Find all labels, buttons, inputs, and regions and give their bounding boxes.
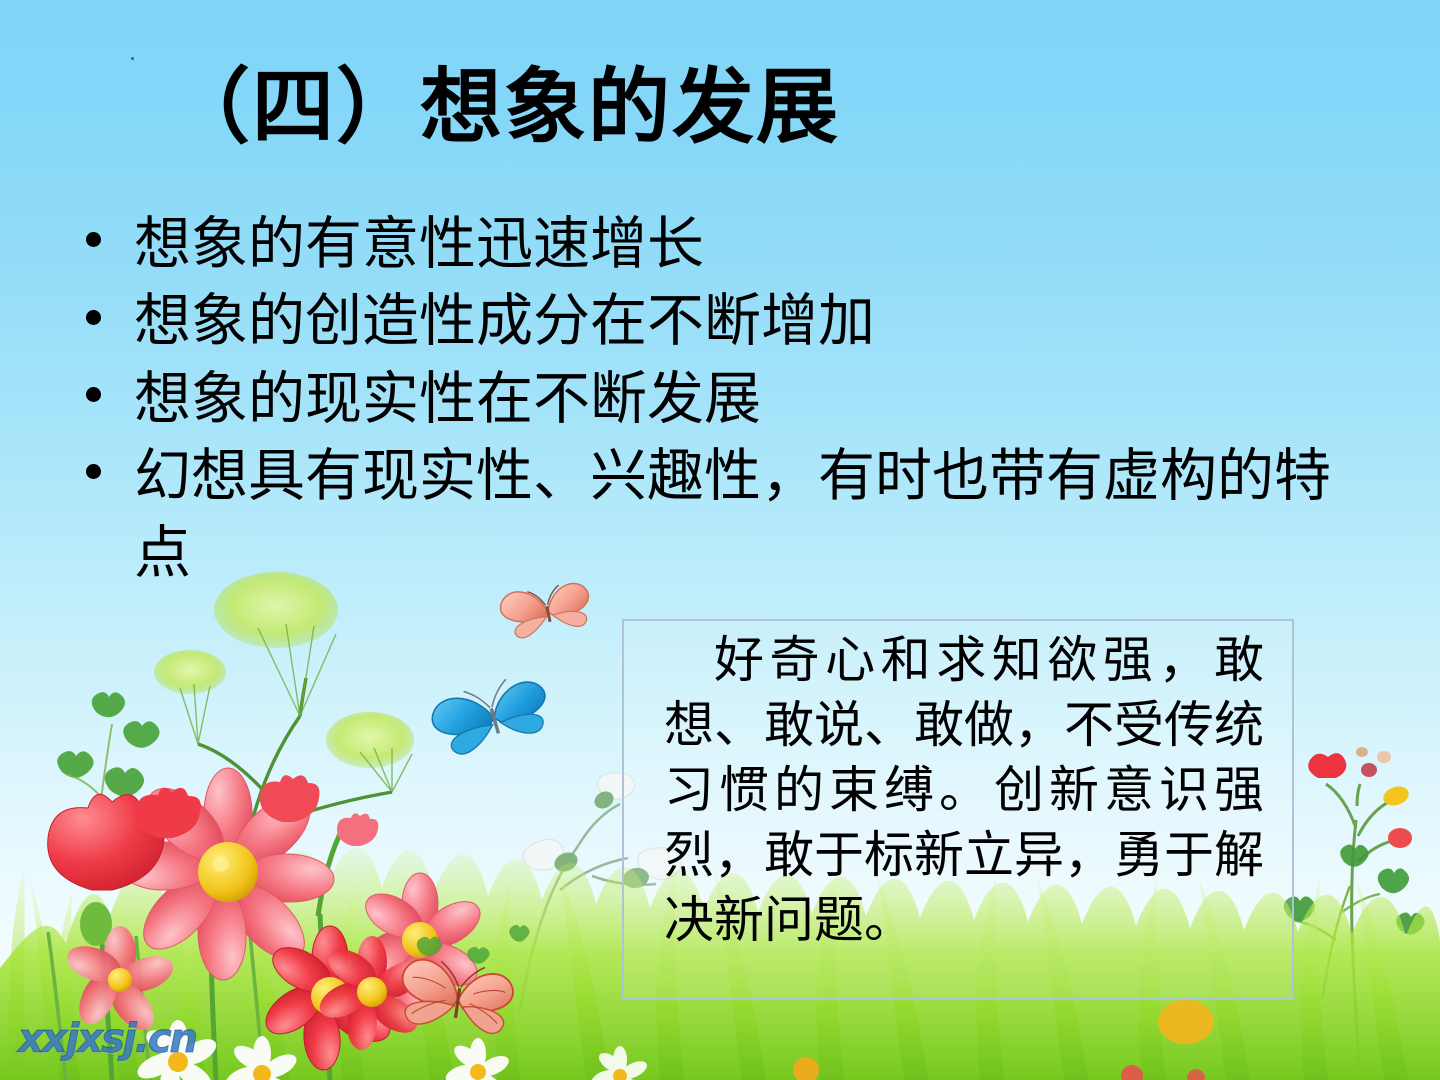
bullet-list: 想象的有意性迅速增长 想象的创造性成分在不断增加 想象的现实性在不断发展 幻想具… — [74, 206, 1334, 592]
bullet-dot-icon — [86, 310, 101, 325]
list-item: 幻想具有现实性、兴趣性，有时也带有虚构的特点 — [74, 438, 1334, 591]
bullet-dot-icon — [86, 464, 101, 479]
butterfly-orange-art — [396, 956, 516, 1036]
bullet-dot-icon — [86, 387, 101, 402]
bullet-dot-icon — [86, 232, 101, 247]
image-speck-artifact — [131, 57, 134, 60]
bullet-text: 幻想具有现实性、兴趣性，有时也带有虚构的特点 — [134, 438, 1334, 591]
site-watermark: xxjxsj.cn — [18, 1016, 196, 1062]
page-title: （四）想象的发展 — [168, 64, 840, 153]
butterfly-blue-art — [427, 670, 555, 760]
list-item: 想象的有意性迅速增长 — [74, 206, 1334, 282]
list-item: 想象的现实性在不断发展 — [74, 361, 1334, 437]
list-item: 想象的创造性成分在不断增加 — [74, 283, 1334, 359]
bullet-text: 想象的有意性迅速增长 — [134, 206, 1334, 282]
slide-canvas: （四）想象的发展 想象的有意性迅速增长 想象的创造性成分在不断增加 想象的现实性… — [0, 0, 1440, 1080]
bullet-text: 想象的现实性在不断发展 — [134, 361, 1334, 437]
callout-text: 好奇心和求知欲强，敢想、敢说、敢做，不受传统习惯的束缚。创新意识强烈，敢于标新立… — [664, 628, 1264, 953]
flower-large — [119, 768, 335, 981]
bullet-text: 想象的创造性成分在不断增加 — [134, 283, 1334, 359]
